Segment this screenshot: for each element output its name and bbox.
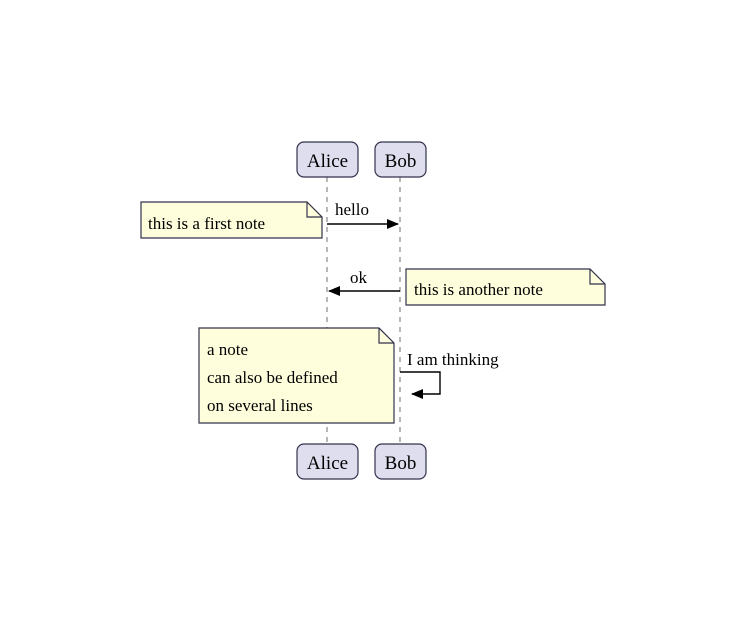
note-multiline[interactable]: a note can also be defined on several li… bbox=[199, 328, 394, 423]
participant-label-alice-bottom: Alice bbox=[307, 453, 348, 474]
i-am-thinking-message-label: I am thinking bbox=[407, 350, 499, 369]
participant-label-alice-top: Alice bbox=[307, 151, 348, 172]
note-multiline-line-1: a note bbox=[207, 340, 248, 359]
note-another[interactable]: this is another note bbox=[406, 269, 605, 305]
participant-bob-top[interactable]: Bob bbox=[375, 142, 426, 177]
i-am-thinking-self-arrow[interactable] bbox=[400, 372, 440, 394]
note-first[interactable]: this is a first note bbox=[141, 202, 322, 238]
note-multiline-line-3: on several lines bbox=[207, 396, 313, 415]
note-multiline-line-2: can also be defined bbox=[207, 368, 338, 387]
participant-label-bob-bottom: Bob bbox=[385, 453, 417, 474]
ok-message-label: ok bbox=[350, 268, 368, 287]
sequence-diagram-canvas: Alice Bob this is a first note hello ok … bbox=[0, 0, 746, 620]
hello-message-label: hello bbox=[335, 200, 369, 219]
note-another-line-1: this is another note bbox=[414, 280, 543, 299]
i-am-thinking-message[interactable]: I am thinking bbox=[400, 350, 499, 394]
sequence-diagram-svg: Alice Bob this is a first note hello ok … bbox=[0, 0, 746, 620]
participant-bob-bottom[interactable]: Bob bbox=[375, 444, 426, 479]
participant-label-bob-top: Bob bbox=[385, 151, 417, 172]
note-first-line-1: this is a first note bbox=[148, 214, 265, 233]
ok-message[interactable]: ok bbox=[329, 268, 400, 291]
hello-message[interactable]: hello bbox=[327, 200, 398, 224]
participant-alice-bottom[interactable]: Alice bbox=[297, 444, 358, 479]
participant-alice-top[interactable]: Alice bbox=[297, 142, 358, 177]
